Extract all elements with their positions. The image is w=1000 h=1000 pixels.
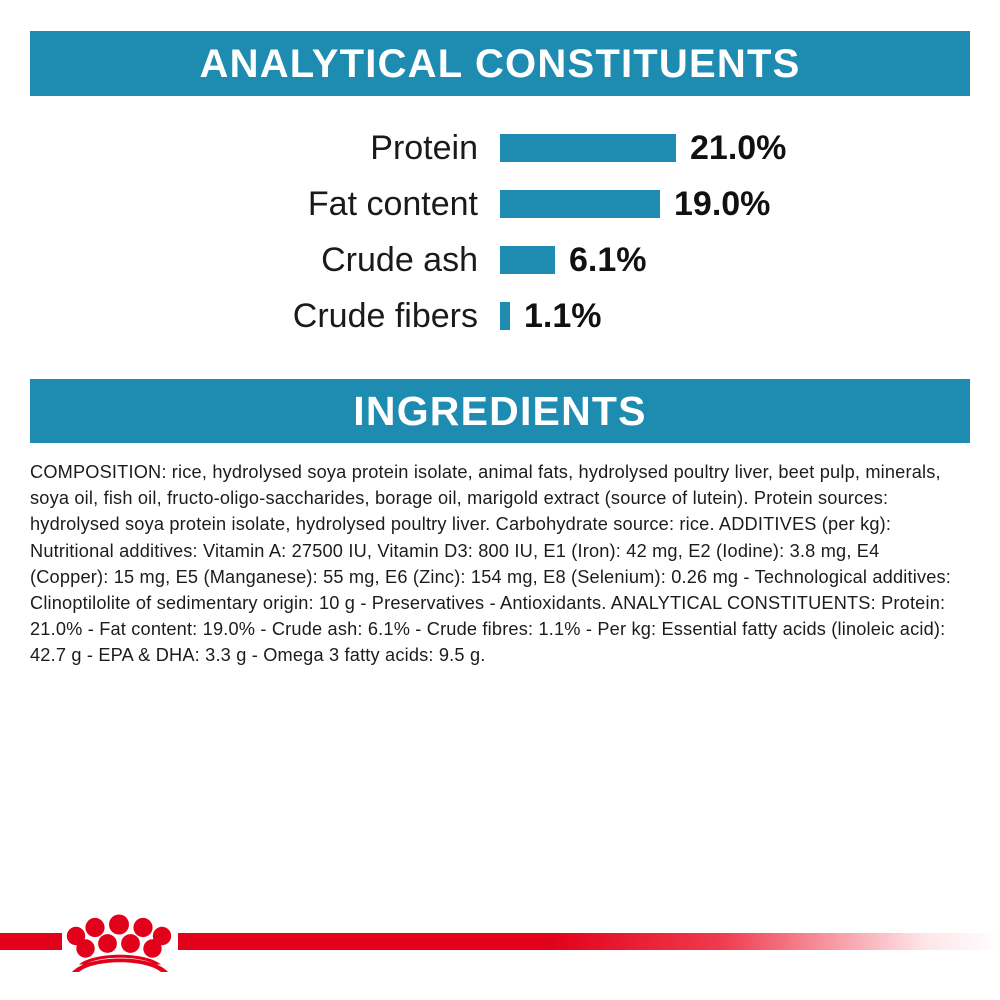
constituent-value-crude-ash: 6.1% [569,243,647,277]
constituent-bar-protein [500,134,676,162]
constituent-value-fat-content: 19.0% [674,187,770,221]
constituent-bar-group-protein: 21.0% [500,134,786,162]
constituent-bar-crude-ash [500,246,555,274]
constituent-bar-fat-content [500,190,660,218]
footer-rule-left [0,933,62,950]
composition-text: COMPOSITION: rice, hydrolysed soya prote… [30,459,955,669]
constituent-label-crude-ash: Crude ash [0,243,478,277]
ingredients-header-band: INGREDIENTS [30,379,970,443]
analytical-constituents-chart: Protein 21.0% Fat content 19.0% Crude as… [0,120,1000,344]
constituent-label-protein: Protein [0,131,478,165]
ingredients-title: INGREDIENTS [353,391,646,432]
constituent-label-fat-content: Fat content [0,187,478,221]
analytical-constituents-header-band: ANALYTICAL CONSTITUENTS [30,31,970,96]
royal-canin-crown-icon [62,910,178,976]
constituent-row-crude-ash: Crude ash 6.1% [0,232,1000,288]
brand-footer [0,900,1000,1000]
analytical-constituents-title: ANALYTICAL CONSTITUENTS [200,44,801,84]
constituent-bar-group-fat-content: 19.0% [500,190,770,218]
product-info-page: ANALYTICAL CONSTITUENTS Protein 21.0% Fa… [0,0,1000,1000]
footer-rule-right [178,933,1000,950]
constituent-label-crude-fibers: Crude fibers [0,299,478,333]
constituent-bar-group-crude-ash: 6.1% [500,246,647,274]
constituent-row-protein: Protein 21.0% [0,120,1000,176]
constituent-bar-group-crude-fibers: 1.1% [500,302,602,330]
constituent-value-crude-fibers: 1.1% [524,299,602,333]
constituent-row-fat-content: Fat content 19.0% [0,176,1000,232]
constituent-bar-crude-fibers [500,302,510,330]
constituent-value-protein: 21.0% [690,131,786,165]
constituent-row-crude-fibers: Crude fibers 1.1% [0,288,1000,344]
